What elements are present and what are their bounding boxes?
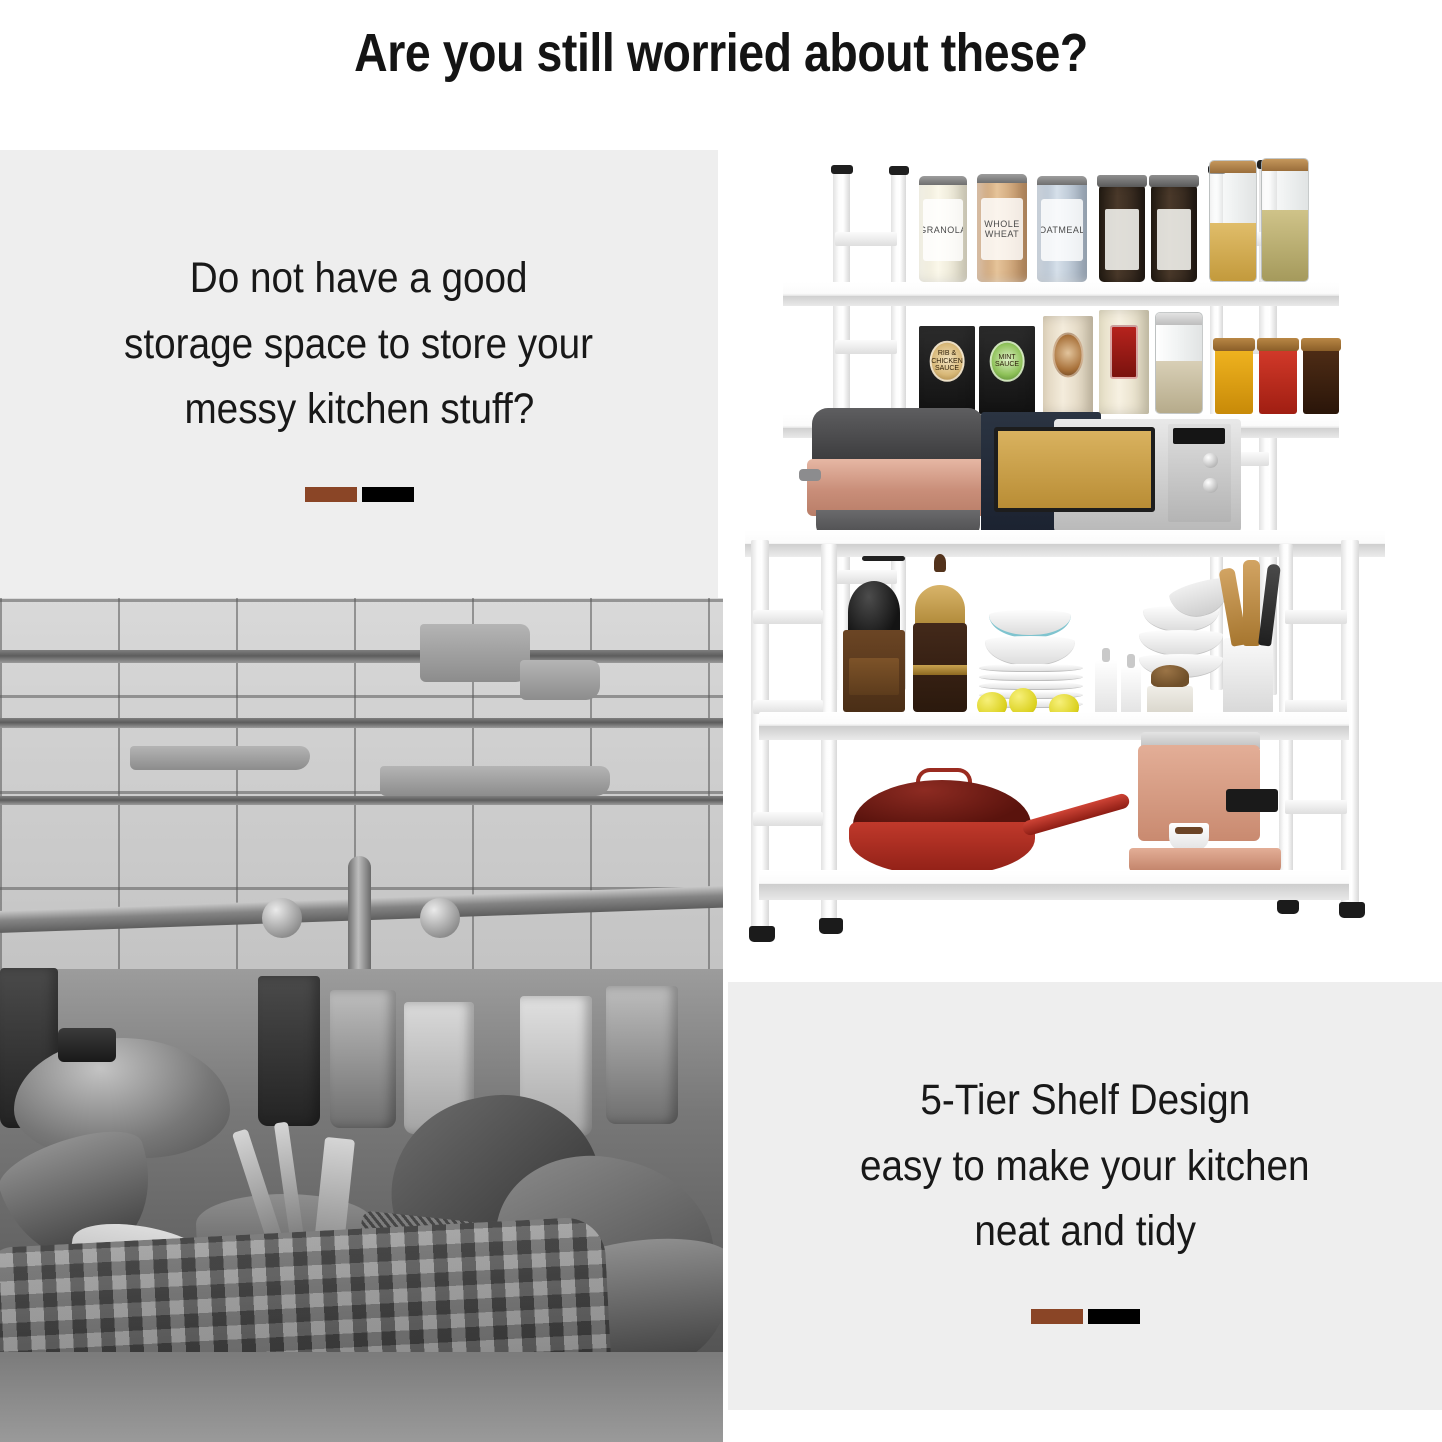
- problem-line-2: storage space to store your: [125, 312, 594, 377]
- jar-label: [1157, 209, 1192, 270]
- microwave-dial: [1203, 478, 1218, 493]
- grinder-drawer: [849, 658, 899, 695]
- jar-label: [1105, 209, 1140, 270]
- jam-jar-dark: [1303, 348, 1339, 414]
- messy-kitchen-photo: [0, 598, 723, 1442]
- wooden-spatula: [1243, 560, 1260, 646]
- post-cap: [831, 165, 853, 174]
- grinder-crank: [862, 556, 905, 561]
- canister-label: WHOLE WHEAT: [981, 198, 1023, 261]
- jar-contents-sugar: [1156, 361, 1202, 413]
- hutch-side-rail: [835, 340, 897, 354]
- product-photo-shelf: GRANOLA WHOLE WHEAT OATMEAL RIB & CHICKE…: [723, 140, 1442, 982]
- faucet-handle: [262, 898, 302, 938]
- espresso-group-head: [1226, 789, 1278, 812]
- peeling-paint: [380, 766, 610, 796]
- shelf-edge-tier-1: [783, 296, 1339, 306]
- page-title: Are you still worried about these?: [101, 22, 1341, 84]
- carton-pack: [1099, 310, 1149, 414]
- glass-jar-sugar: [1155, 312, 1203, 414]
- coffee-grinder-wood: [843, 570, 905, 712]
- jar-lid: [1257, 338, 1299, 351]
- utensil-crock: [1223, 638, 1273, 718]
- divider-right: [1031, 1309, 1140, 1324]
- jam-jar-red: [1259, 348, 1297, 414]
- canister-lid: [1037, 176, 1087, 185]
- canister-label: GRANOLA: [923, 199, 963, 260]
- plate: [979, 682, 1083, 690]
- espresso-machine: [1129, 732, 1281, 874]
- canister-label: OATMEAL: [1041, 199, 1083, 260]
- post-cap: [889, 166, 909, 175]
- jar-lid: [1097, 175, 1147, 187]
- press-knob: [934, 554, 947, 572]
- red-saucepan: [849, 780, 1035, 876]
- soap-dispenser: [1121, 666, 1141, 718]
- lower-side-rail: [753, 812, 823, 826]
- shelf-foot: [749, 926, 775, 942]
- peeling-paint: [130, 746, 310, 770]
- wall-grout-line: [0, 718, 723, 728]
- wall-grout-line: [0, 650, 723, 663]
- divider-left: [305, 487, 414, 502]
- jar-contents-pasta: [1210, 223, 1256, 281]
- rice-cooker-handle: [799, 469, 821, 481]
- glass-jar-pasta: [1209, 160, 1257, 282]
- dirty-mug: [330, 990, 396, 1128]
- feature-line-2: easy to make your kitchen: [860, 1134, 1310, 1199]
- lower-side-rail: [1285, 800, 1347, 814]
- microwave-door: [994, 427, 1155, 512]
- dirty-mug: [258, 976, 320, 1126]
- dirty-glass: [606, 986, 678, 1124]
- divider-brown-bar: [1031, 1309, 1083, 1324]
- faucet-handle: [420, 898, 460, 938]
- lower-side-rail: [753, 610, 823, 624]
- rice-cooker-body: [807, 459, 989, 515]
- problem-text-panel: Do not have a good storage space to stor…: [0, 150, 718, 598]
- microwave-oven: [981, 412, 1241, 534]
- jar-wood-lid: [1261, 158, 1309, 171]
- saucepan-body: [849, 822, 1035, 876]
- shelf-foot: [1339, 902, 1365, 918]
- divider-brown-bar: [305, 487, 357, 502]
- white-bowl: [985, 636, 1075, 666]
- divider-black-bar: [362, 487, 414, 502]
- rice-cooker-lid: [812, 408, 983, 464]
- pot-lid-knob: [58, 1028, 116, 1062]
- microwave-display: [1173, 428, 1225, 444]
- carton-label: [1110, 325, 1138, 379]
- shelf-foot: [819, 918, 843, 934]
- jam-jar-yellow: [1215, 348, 1253, 414]
- carton-pack: [1043, 316, 1093, 414]
- floor: [0, 1352, 723, 1442]
- sauce-box-label: MINT SAUCE: [990, 341, 1025, 381]
- soap-dispenser: [1095, 660, 1117, 718]
- jar-lid: [1301, 338, 1341, 351]
- canister-granola: GRANOLA: [919, 176, 967, 282]
- hutch-side-rail: [835, 232, 897, 246]
- problem-line-3: messy kitchen stuff?: [184, 377, 534, 442]
- problem-line-1: Do not have a good: [190, 246, 528, 311]
- feature-line-1: 5-Tier Shelf Design: [920, 1068, 1250, 1133]
- carton-label: [1053, 333, 1084, 378]
- shelf-foot: [1277, 900, 1299, 914]
- french-press: [913, 568, 967, 712]
- peeling-paint: [520, 660, 600, 700]
- faucet-spout: [348, 856, 371, 988]
- jar-lid: [1149, 175, 1199, 187]
- canister-whole-wheat: WHOLE WHEAT: [977, 174, 1027, 282]
- preserve-jar: [1151, 184, 1197, 282]
- glass-jar-grains: [1261, 158, 1309, 282]
- peeling-paint: [420, 624, 530, 682]
- canister-oatmeal: OATMEAL: [1037, 176, 1087, 282]
- jar-clamp-lid: [1155, 312, 1203, 325]
- canister-lid: [919, 176, 967, 185]
- saucepan-handle: [1021, 792, 1131, 837]
- jar-wood-lid: [1209, 160, 1257, 173]
- jar-lid: [1213, 338, 1255, 351]
- feature-text-panel: 5-Tier Shelf Design easy to make your ki…: [728, 982, 1442, 1410]
- rice-cooker: [807, 408, 989, 536]
- sauce-box-rib-chicken: RIB & CHICKEN SAUCE: [919, 326, 975, 414]
- jar-contents-grains: [1262, 210, 1308, 281]
- plate: [979, 664, 1083, 672]
- espresso-cup: [1169, 823, 1209, 851]
- wall-grout-line: [0, 796, 723, 805]
- canister-lid: [977, 174, 1027, 183]
- lower-side-rail: [1285, 610, 1347, 624]
- sauce-box-mint: MINT SAUCE: [979, 326, 1035, 414]
- sauce-box-label: RIB & CHICKEN SAUCE: [930, 341, 965, 381]
- press-band: [913, 665, 967, 675]
- preserve-jar: [1099, 184, 1145, 282]
- shelf-edge-tier-5: [759, 884, 1349, 900]
- divider-black-bar: [1088, 1309, 1140, 1324]
- plate: [979, 673, 1083, 681]
- white-bowl: [989, 610, 1071, 638]
- grinder-dome: [1151, 665, 1190, 687]
- feature-line-3: neat and tidy: [974, 1199, 1196, 1264]
